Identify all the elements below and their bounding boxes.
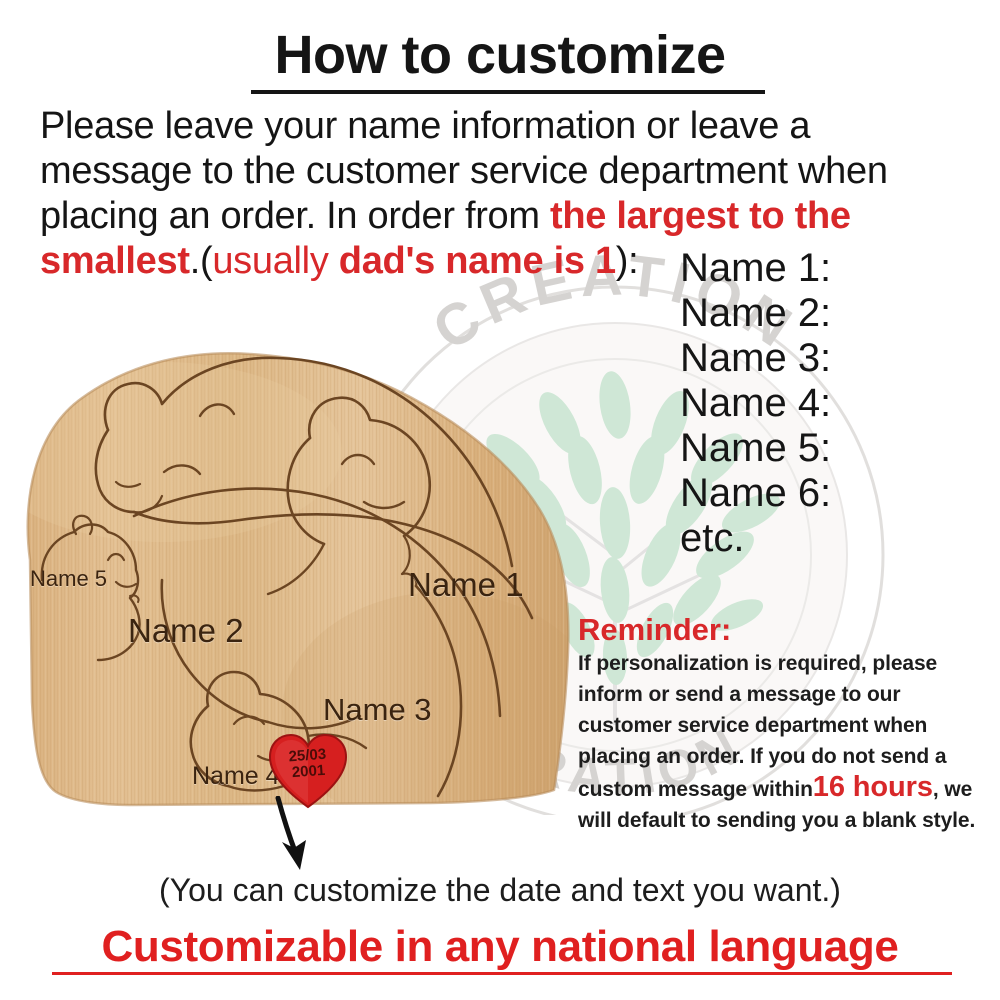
- intro-text-part-3: ):: [616, 240, 639, 282]
- footer-slogan: Customizable in any national language: [0, 922, 1000, 972]
- name-slot-1: Name 1:: [680, 246, 831, 291]
- engraved-label-name-5: Name 5: [30, 566, 107, 592]
- page-title: How to customize: [0, 28, 1000, 82]
- reminder-hours-highlight: 16 hours: [813, 771, 933, 803]
- name-slot-etc: etc.: [680, 516, 831, 561]
- instruction-graphic: CREATION ORATION: [0, 0, 1000, 1000]
- heart-engraved-date: 25/03 2001: [271, 746, 345, 783]
- name-slot-3: Name 3:: [680, 336, 831, 381]
- engraved-label-name-1: Name 1: [408, 566, 524, 604]
- footer-note: (You can customize the date and text you…: [0, 872, 1000, 909]
- engraved-label-name-3: Name 3: [323, 692, 432, 728]
- callout-arrow-icon: [268, 796, 328, 876]
- title-underline: [251, 90, 765, 94]
- name-slot-4: Name 4:: [680, 381, 831, 426]
- footer-slogan-underline: [52, 972, 952, 975]
- reminder-body: If personalization is required, please i…: [578, 648, 980, 836]
- name-slot-list: Name 1: Name 2: Name 3: Name 4: Name 5: …: [680, 246, 831, 561]
- reminder-heading: Reminder:: [578, 612, 731, 648]
- name-slot-5: Name 5:: [680, 426, 831, 471]
- name-slot-6: Name 6:: [680, 471, 831, 516]
- intro-text-part-2: .(: [190, 240, 213, 282]
- intro-highlight-dads-name: dad's name is 1: [339, 240, 616, 282]
- name-slot-2: Name 2:: [680, 291, 831, 336]
- intro-usually-text: usually: [212, 240, 338, 282]
- engraved-label-name-4: Name 4: [192, 762, 280, 791]
- engraved-label-name-2: Name 2: [128, 612, 244, 650]
